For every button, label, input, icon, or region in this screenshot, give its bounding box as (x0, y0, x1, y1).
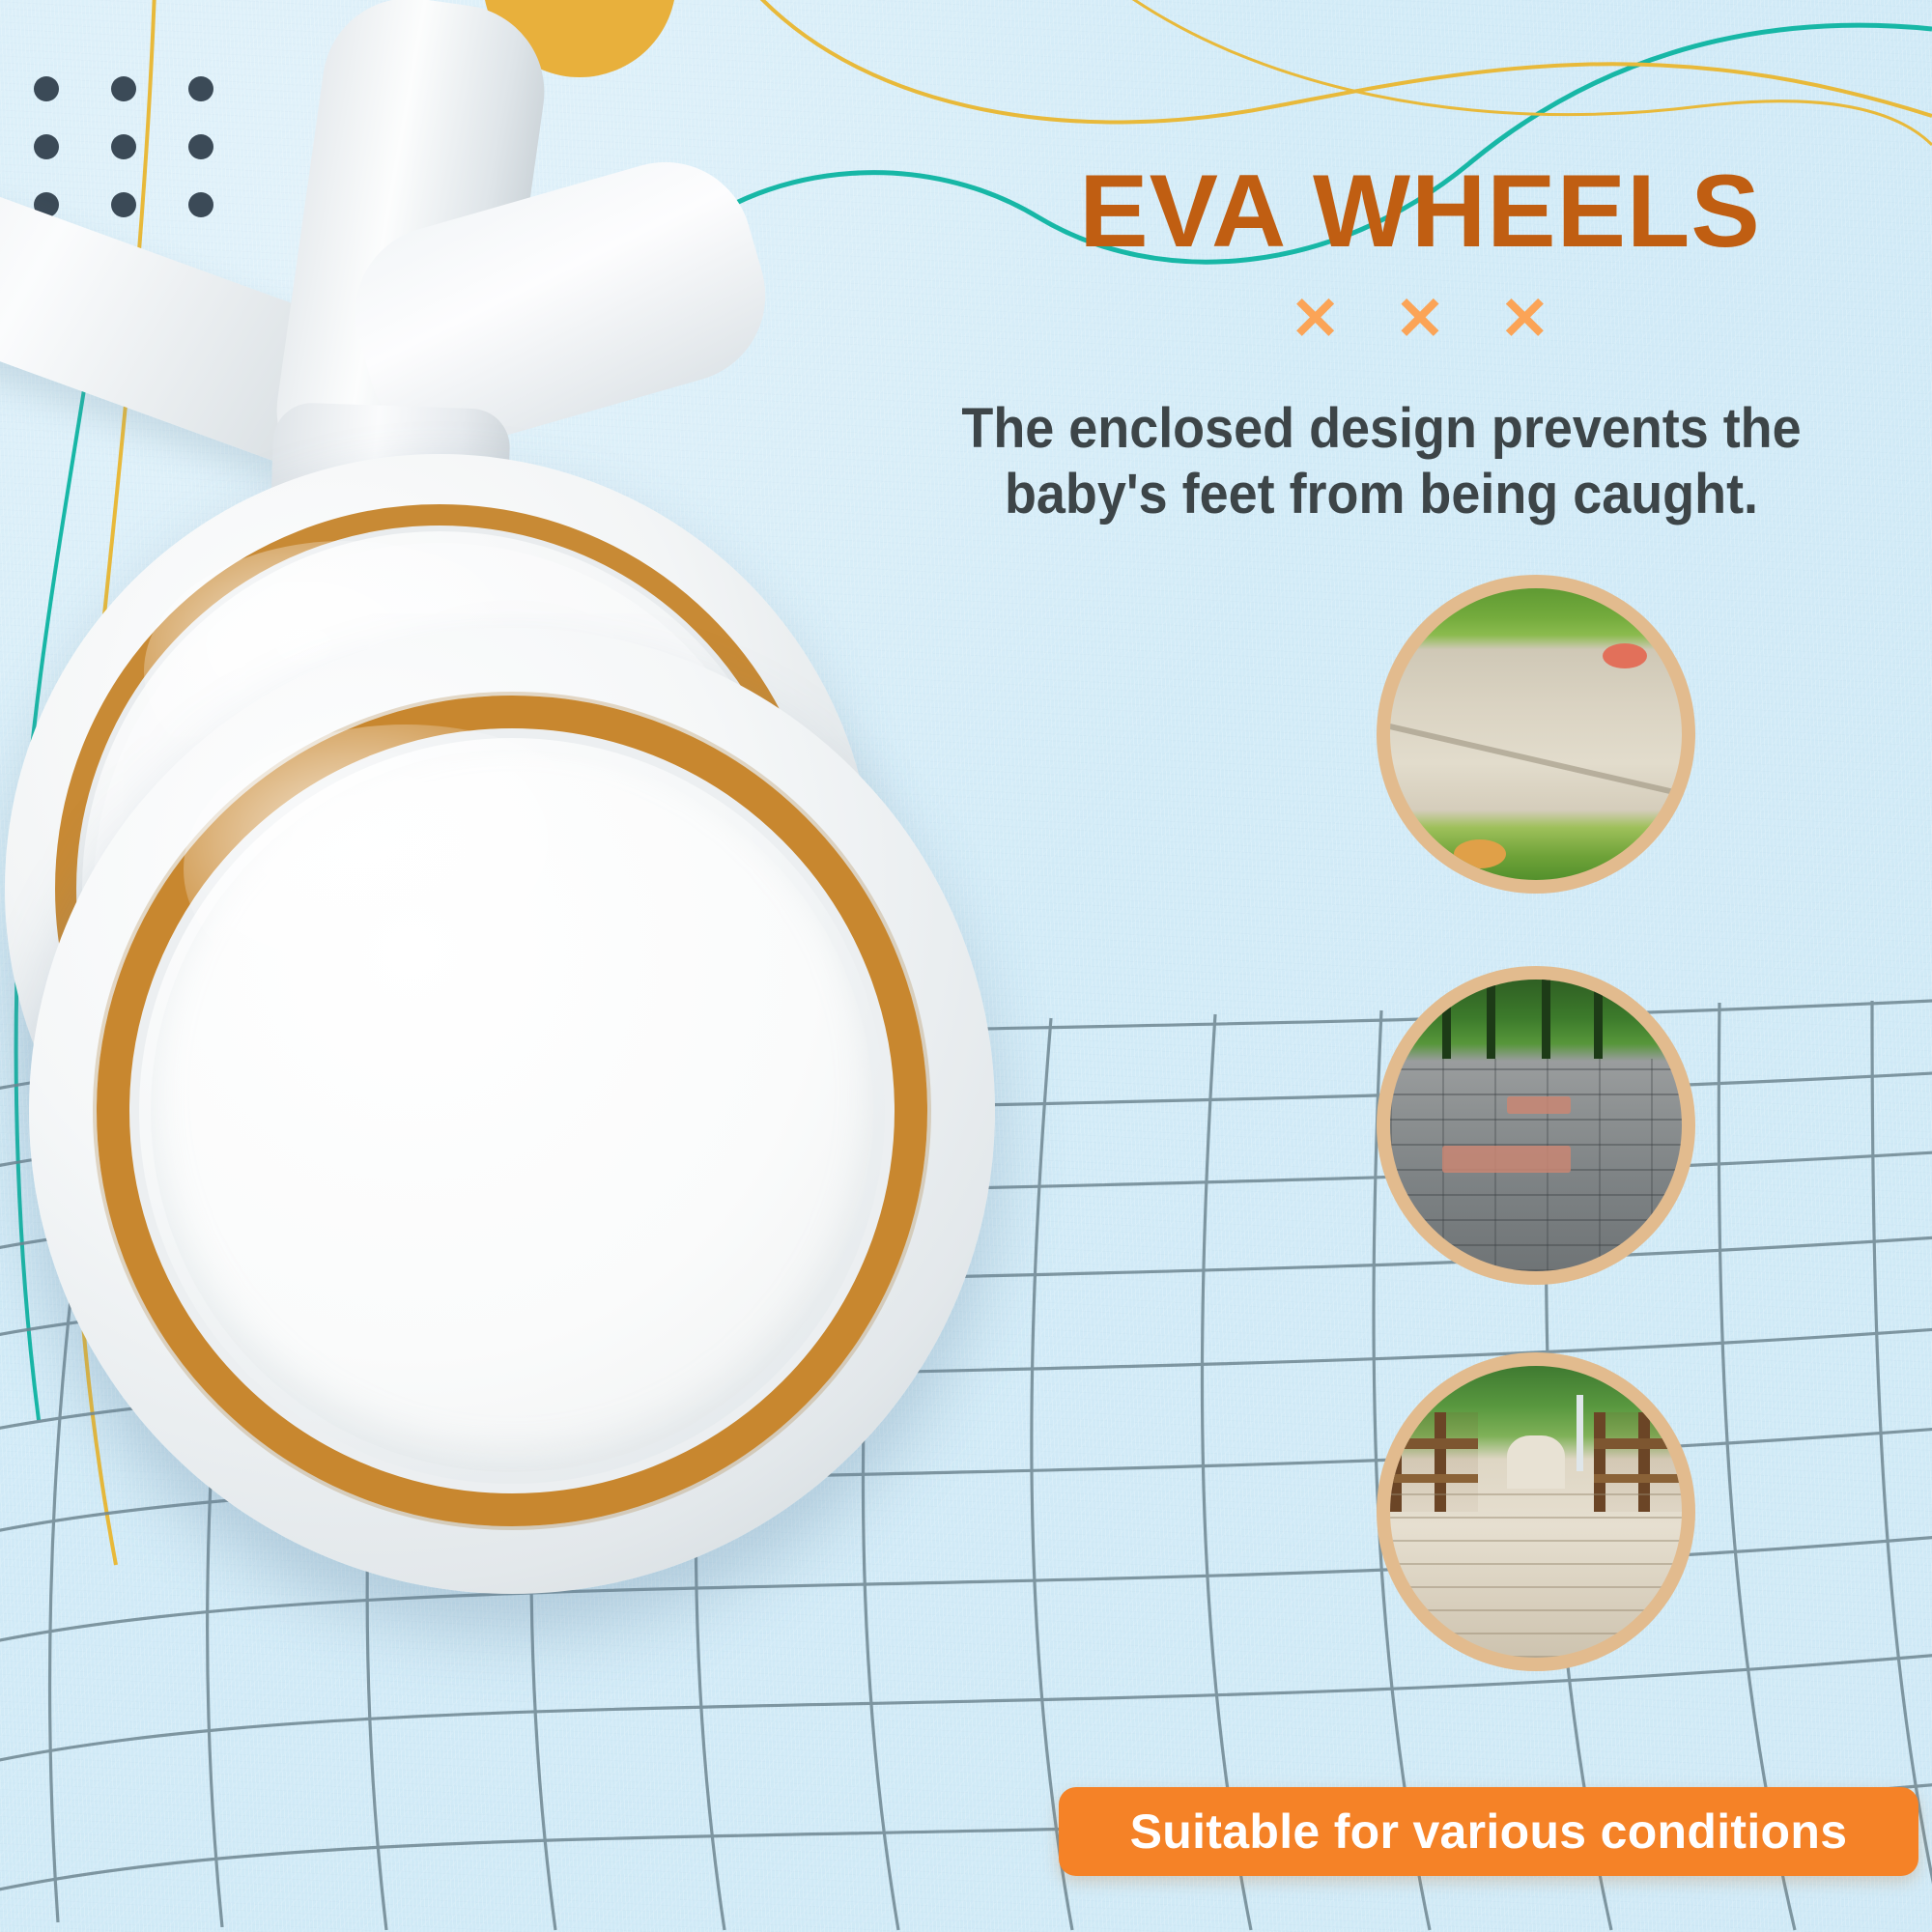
front-wheel (29, 628, 995, 1594)
thumbnail-bridge-image (1390, 1366, 1682, 1658)
scene-concrete-sidewalk (1390, 588, 1682, 880)
x-mark-icon: ✕ (1395, 290, 1445, 350)
front-wheel-face (151, 750, 873, 1472)
thumbnail-sidewalk (1377, 575, 1695, 894)
divider-x-marks: ✕ ✕ ✕ (1005, 290, 1835, 350)
paver-accent-brick (1442, 1146, 1571, 1173)
tree-trunk (1487, 980, 1495, 1059)
status-banner: Suitable for various conditions (1059, 1787, 1918, 1876)
thumbnail-bridge (1377, 1352, 1695, 1671)
x-mark-icon: ✕ (1499, 290, 1549, 350)
boardwalk-planks (1390, 1477, 1682, 1658)
thumbnail-pavers-image (1390, 980, 1682, 1271)
scene-brick-paver-path (1390, 980, 1682, 1271)
page-title: EVA WHEELS (1005, 159, 1835, 263)
tree-trunk (1594, 980, 1603, 1059)
marketing-banner: e EVA WHEELS ✕ ✕ ✕ The enclosed design p… (0, 0, 1932, 1932)
product-photo-wheel-closeup: e (0, 135, 1024, 1642)
fallen-leaf-icon (1603, 643, 1647, 668)
lamp-post (1577, 1395, 1583, 1471)
subtitle-text: The enclosed design prevents the baby's … (932, 396, 1831, 527)
status-banner-label: Suitable for various conditions (1130, 1804, 1848, 1860)
thumbnail-pavers (1377, 966, 1695, 1285)
fallen-leaf-icon (1454, 839, 1506, 868)
sidewalk-seam (1390, 718, 1682, 802)
x-mark-icon: ✕ (1291, 290, 1341, 350)
yellow-curve-decoration-1 (753, 0, 1932, 123)
tree-trunk (1442, 980, 1451, 1059)
scene-wooden-boardwalk (1390, 1366, 1682, 1658)
tree-trunk (1542, 980, 1550, 1059)
paver-accent-brick (1507, 1096, 1571, 1114)
thumbnail-sidewalk-image (1390, 588, 1682, 880)
